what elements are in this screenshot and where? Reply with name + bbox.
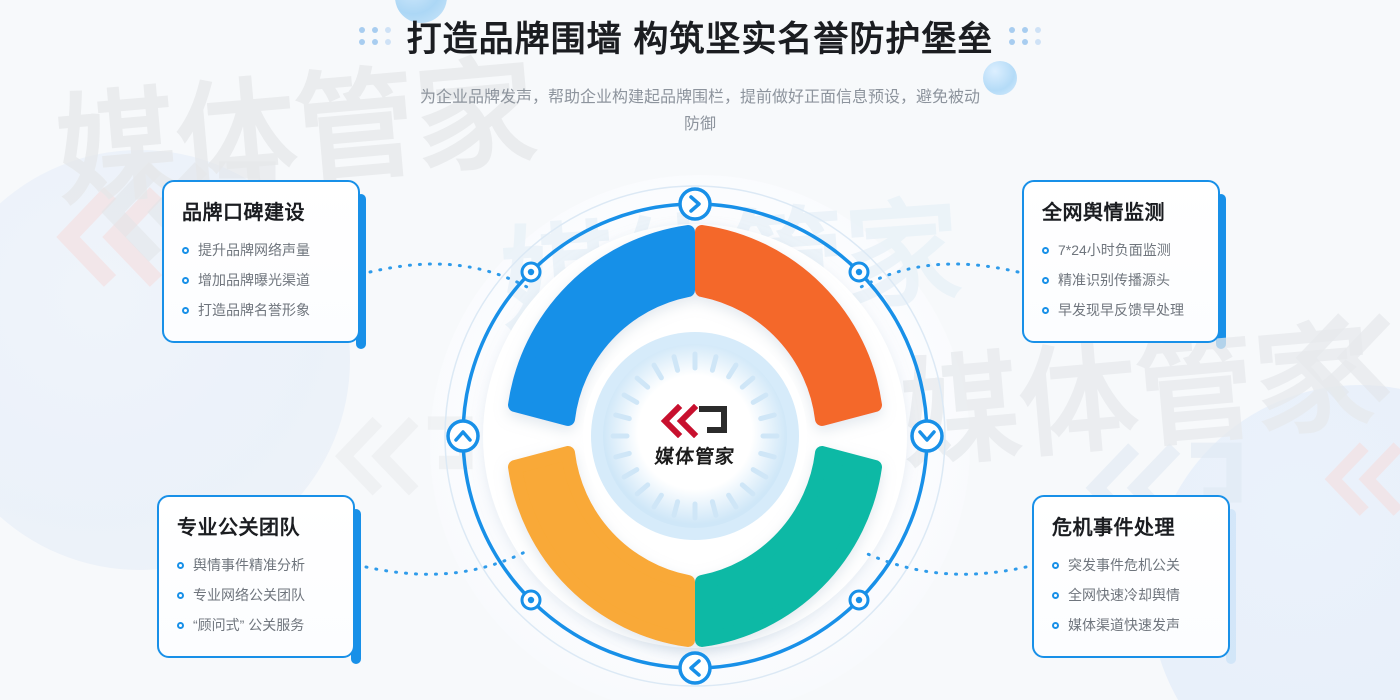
node-left[interactable] <box>448 421 478 451</box>
list-item: “顾问式” 公关服务 <box>177 610 335 640</box>
list-item: 精准识别传播源头 <box>1042 265 1200 295</box>
list-item-label: 媒体渠道快速发声 <box>1068 610 1180 640</box>
list-item: 专业网络公关团队 <box>177 580 335 610</box>
bullet-icon <box>177 562 184 569</box>
center-logo: 媒体管家 <box>635 381 755 491</box>
list-item-label: 舆情事件精准分析 <box>193 550 305 580</box>
card-title: 品牌口碑建设 <box>182 196 340 225</box>
list-item-label: 增加品牌曝光渠道 <box>198 265 310 295</box>
node-top[interactable] <box>680 189 710 219</box>
list-item: 7*24小时负面监测 <box>1042 235 1200 265</box>
bullet-icon <box>1052 562 1059 569</box>
page-title: 打造品牌围墙 构筑坚实名誉防护堡垒 <box>407 11 994 62</box>
bullet-icon <box>177 592 184 599</box>
watermark-logo-mark <box>1290 300 1400 435</box>
title-row: 打造品牌围墙 构筑坚实名誉防护堡垒 <box>0 0 1400 72</box>
center-logo-name: 媒体管家 <box>654 442 737 469</box>
list-item: 早发现早反馈早处理 <box>1042 295 1200 325</box>
card-item-list: 7*24小时负面监测 精准识别传播源头 早发现早反馈早处理 <box>1042 235 1200 325</box>
list-item: 突发事件危机公关 <box>1052 550 1210 580</box>
list-item-label: 7*24小时负面监测 <box>1058 235 1171 265</box>
bullet-icon <box>182 247 189 254</box>
card-pr-team[interactable]: 专业公关团队 舆情事件精准分析 专业网络公关团队 “顾问式” 公关服务 <box>157 495 355 658</box>
bullet-icon <box>182 277 189 284</box>
ring-dot-core <box>528 597 534 603</box>
double-chevron-logo-icon <box>658 404 732 438</box>
list-item: 打造品牌名誉形象 <box>182 295 340 325</box>
card-title: 专业公关团队 <box>177 511 335 540</box>
circular-diagram: 媒体管家 <box>437 178 953 694</box>
list-item-label: 突发事件危机公关 <box>1068 550 1180 580</box>
dot-grid-left-decoration <box>359 27 391 45</box>
page-subtitle: 为企业品牌发声，帮助企业构建起品牌围栏，提前做好正面信息预设，避免被动防御 <box>420 84 980 138</box>
card-item-list: 突发事件危机公关 全网快速冷却舆情 媒体渠道快速发声 <box>1052 550 1210 640</box>
list-item: 舆情事件精准分析 <box>177 550 335 580</box>
list-item-label: 提升品牌网络声量 <box>198 235 310 265</box>
list-item-label: 打造品牌名誉形象 <box>198 295 310 325</box>
ring-dot-core <box>856 269 862 275</box>
card-brand-reputation[interactable]: 品牌口碑建设 提升品牌网络声量 增加品牌曝光渠道 打造品牌名誉形象 <box>162 180 360 343</box>
page-title-wrap: 打造品牌围墙 构筑坚实名誉防护堡垒 <box>407 0 994 85</box>
node-bottom[interactable] <box>680 653 710 683</box>
card-item-list: 舆情事件精准分析 专业网络公关团队 “顾问式” 公关服务 <box>177 550 335 640</box>
bullet-icon <box>1052 592 1059 599</box>
list-item: 媒体渠道快速发声 <box>1052 610 1210 640</box>
list-item: 全网快速冷却舆情 <box>1052 580 1210 610</box>
card-item-list: 提升品牌网络声量 增加品牌曝光渠道 打造品牌名誉形象 <box>182 235 340 325</box>
bullet-icon <box>1042 277 1049 284</box>
list-item-label: 专业网络公关团队 <box>193 580 305 610</box>
bullet-icon <box>1042 247 1049 254</box>
list-item-label: “顾问式” 公关服务 <box>193 610 304 640</box>
bullet-icon <box>1042 307 1049 314</box>
bullet-icon <box>182 307 189 314</box>
bullet-icon <box>1052 622 1059 629</box>
list-item-label: 早发现早反馈早处理 <box>1058 295 1184 325</box>
title-orb-right-icon <box>983 61 1017 95</box>
card-crisis-handling[interactable]: 危机事件处理 突发事件危机公关 全网快速冷却舆情 媒体渠道快速发声 <box>1032 495 1230 658</box>
dot-grid-right-decoration <box>1009 27 1041 45</box>
list-item-label: 精准识别传播源头 <box>1058 265 1170 295</box>
page-header: 打造品牌围墙 构筑坚实名誉防护堡垒 为企业品牌发声，帮助企业构建起品牌围栏，提前… <box>0 0 1400 138</box>
list-item: 提升品牌网络声量 <box>182 235 340 265</box>
list-item: 增加品牌曝光渠道 <box>182 265 340 295</box>
list-item-label: 全网快速冷却舆情 <box>1068 580 1180 610</box>
ring-dot-core <box>856 597 862 603</box>
card-title: 危机事件处理 <box>1052 511 1210 540</box>
bullet-icon <box>177 622 184 629</box>
node-right[interactable] <box>912 421 942 451</box>
card-title: 全网舆情监测 <box>1042 196 1200 225</box>
watermark-logo-mark <box>1320 430 1400 545</box>
ring-dot-core <box>528 269 534 275</box>
card-opinion-monitoring[interactable]: 全网舆情监测 7*24小时负面监测 精准识别传播源头 早发现早反馈早处理 <box>1022 180 1220 343</box>
